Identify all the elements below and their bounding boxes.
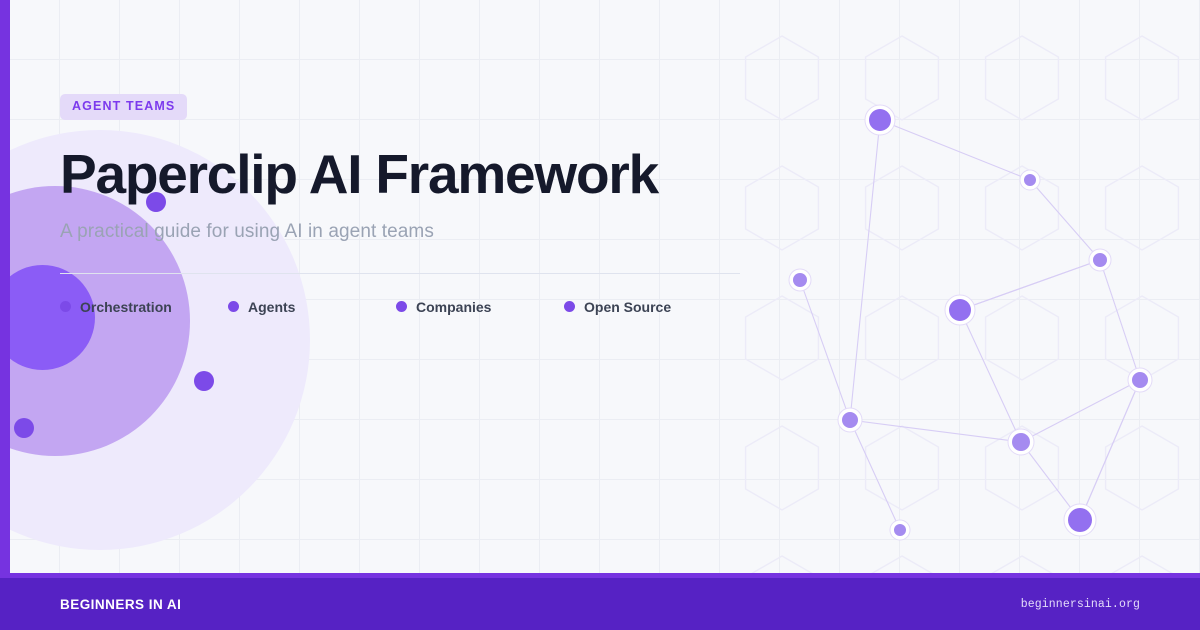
tag-label: Agents	[248, 299, 295, 315]
tag-label: Open Source	[584, 299, 671, 315]
tag-item-orchestration: Orchestration	[60, 299, 228, 315]
bullet-dot-icon	[564, 301, 575, 312]
footer-brand: BEGINNERS IN AI	[60, 597, 181, 612]
tag-item-companies: Companies	[396, 299, 564, 315]
decorative-dot-bottom	[14, 418, 34, 438]
poster-canvas: AGENT TEAMS Paperclip AI Framework A pra…	[0, 0, 1200, 630]
tag-list: Orchestration Agents Companies Open Sour…	[60, 299, 760, 315]
bullet-dot-icon	[228, 301, 239, 312]
bullet-dot-icon	[396, 301, 407, 312]
tag-item-open-source: Open Source	[564, 299, 732, 315]
tag-item-agents: Agents	[228, 299, 396, 315]
tag-label: Orchestration	[80, 299, 172, 315]
footer-url: beginnersinai.org	[1021, 598, 1140, 611]
left-accent-bar	[0, 0, 10, 578]
content-block: AGENT TEAMS Paperclip AI Framework A pra…	[60, 94, 760, 315]
footer-bar: BEGINNERS IN AI beginnersinai.org	[0, 578, 1200, 630]
tag-label: Companies	[416, 299, 491, 315]
bullet-dot-icon	[60, 301, 71, 312]
divider	[60, 273, 740, 274]
page-title: Paperclip AI Framework	[60, 146, 760, 203]
page-subtitle: A practical guide for using AI in agent …	[60, 221, 760, 243]
category-badge: AGENT TEAMS	[60, 94, 187, 120]
network-graph	[740, 0, 1200, 580]
decorative-dot-middle	[194, 371, 214, 391]
